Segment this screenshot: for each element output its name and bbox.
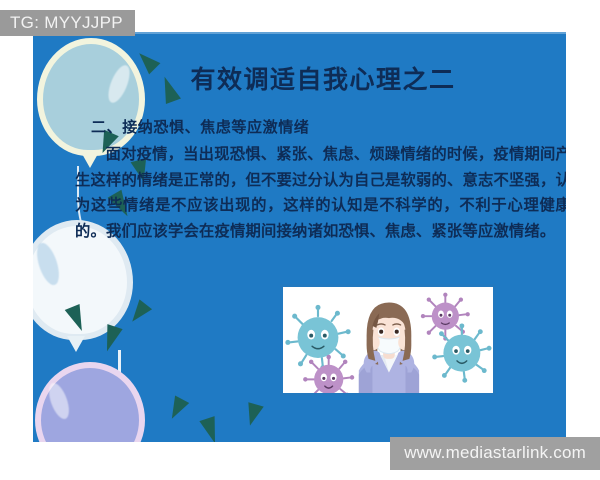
telegram-tag-watermark: TG: MYYJJPP <box>0 10 135 36</box>
site-url-watermark: www.mediastarlink.com <box>390 437 600 470</box>
confetti-triangle-icon <box>165 396 189 423</box>
screenshot-canvas: TG: MYYJJPP <box>0 0 600 480</box>
girl-with-mask-illustration <box>283 287 493 396</box>
slide-title: 有效调适自我心理之二 <box>158 66 488 95</box>
confetti-triangle-icon <box>242 402 263 428</box>
slide-subtitle: 二、接纳恐惧、焦虑等应激情绪 <box>91 116 309 137</box>
presentation-slide: 有效调适自我心理之二 二、接纳恐惧、焦虑等应激情绪 面对疫情，当出现恐惧、紧张、… <box>33 32 566 442</box>
slide-canvas: 有效调适自我心理之二 二、接纳恐惧、焦虑等应激情绪 面对疫情，当出现恐惧、紧张、… <box>33 32 566 442</box>
illustration-card <box>280 284 496 396</box>
slide-body-text: 面对疫情，当出现恐惧、紧张、焦虑、烦躁情绪的时候，疫情期间产生这样的情绪是正常的… <box>75 142 566 244</box>
balloon-lavender-decoration <box>35 362 155 442</box>
confetti-triangle-icon <box>199 416 222 442</box>
balloon-body <box>37 38 145 156</box>
body-paragraph: 面对疫情，当出现恐惧、紧张、焦虑、烦躁情绪的时候，疫情期间产生这样的情绪是正常的… <box>75 142 566 244</box>
